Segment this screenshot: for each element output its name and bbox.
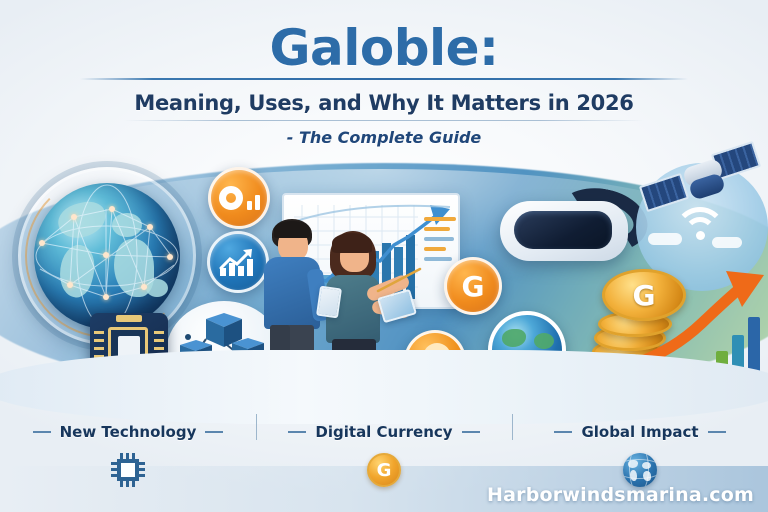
footer-label: Digital Currency (315, 423, 452, 441)
footer-items: New Technology (0, 420, 768, 492)
footer: New Technology (0, 412, 768, 512)
dash-right (708, 431, 726, 433)
token-letter: G (462, 270, 485, 303)
globe-icon (623, 453, 657, 487)
footer-item-digital-currency[interactable]: Digital Currency G (256, 420, 512, 492)
dash-left (33, 431, 51, 433)
vr-body (500, 201, 628, 261)
globe-sphere (34, 183, 180, 329)
dash-right (462, 431, 480, 433)
footer-item-new-technology[interactable]: New Technology (0, 420, 256, 492)
coin-icon: G (367, 453, 401, 487)
infographic-canvas: Galoble: Meaning, Uses, and Why It Matte… (0, 0, 768, 512)
footer-label: New Technology (60, 423, 197, 441)
dash-right (205, 431, 223, 433)
vr-headset-icon (494, 179, 654, 275)
page-subtitle: Meaning, Uses, and Why It Matters in 202… (0, 91, 768, 115)
notebook (316, 286, 342, 319)
footer-divider (256, 414, 257, 440)
page-title: Galoble: (0, 22, 768, 75)
whiteboard-legend-lines (424, 217, 456, 261)
mini-bars-icon (247, 192, 260, 210)
bar-chart-arrow-icon (218, 246, 258, 278)
vr-lens (514, 211, 612, 249)
title-divider (80, 78, 688, 80)
page-tagline: - The Complete Guide (0, 128, 768, 147)
dash-left (554, 431, 572, 433)
footer-item-global-impact[interactable]: Global Impact (512, 420, 768, 492)
header: Galoble: Meaning, Uses, and Why It Matte… (0, 0, 768, 170)
pointer-stick (376, 265, 424, 295)
illustration-band: ? G (0, 155, 768, 410)
dash-left (288, 431, 306, 433)
donut-chart-icon (219, 186, 243, 210)
footer-label: Global Impact (581, 423, 698, 441)
microchip-icon (111, 453, 145, 487)
footer-divider (512, 414, 513, 440)
subtitle-divider (124, 120, 644, 121)
